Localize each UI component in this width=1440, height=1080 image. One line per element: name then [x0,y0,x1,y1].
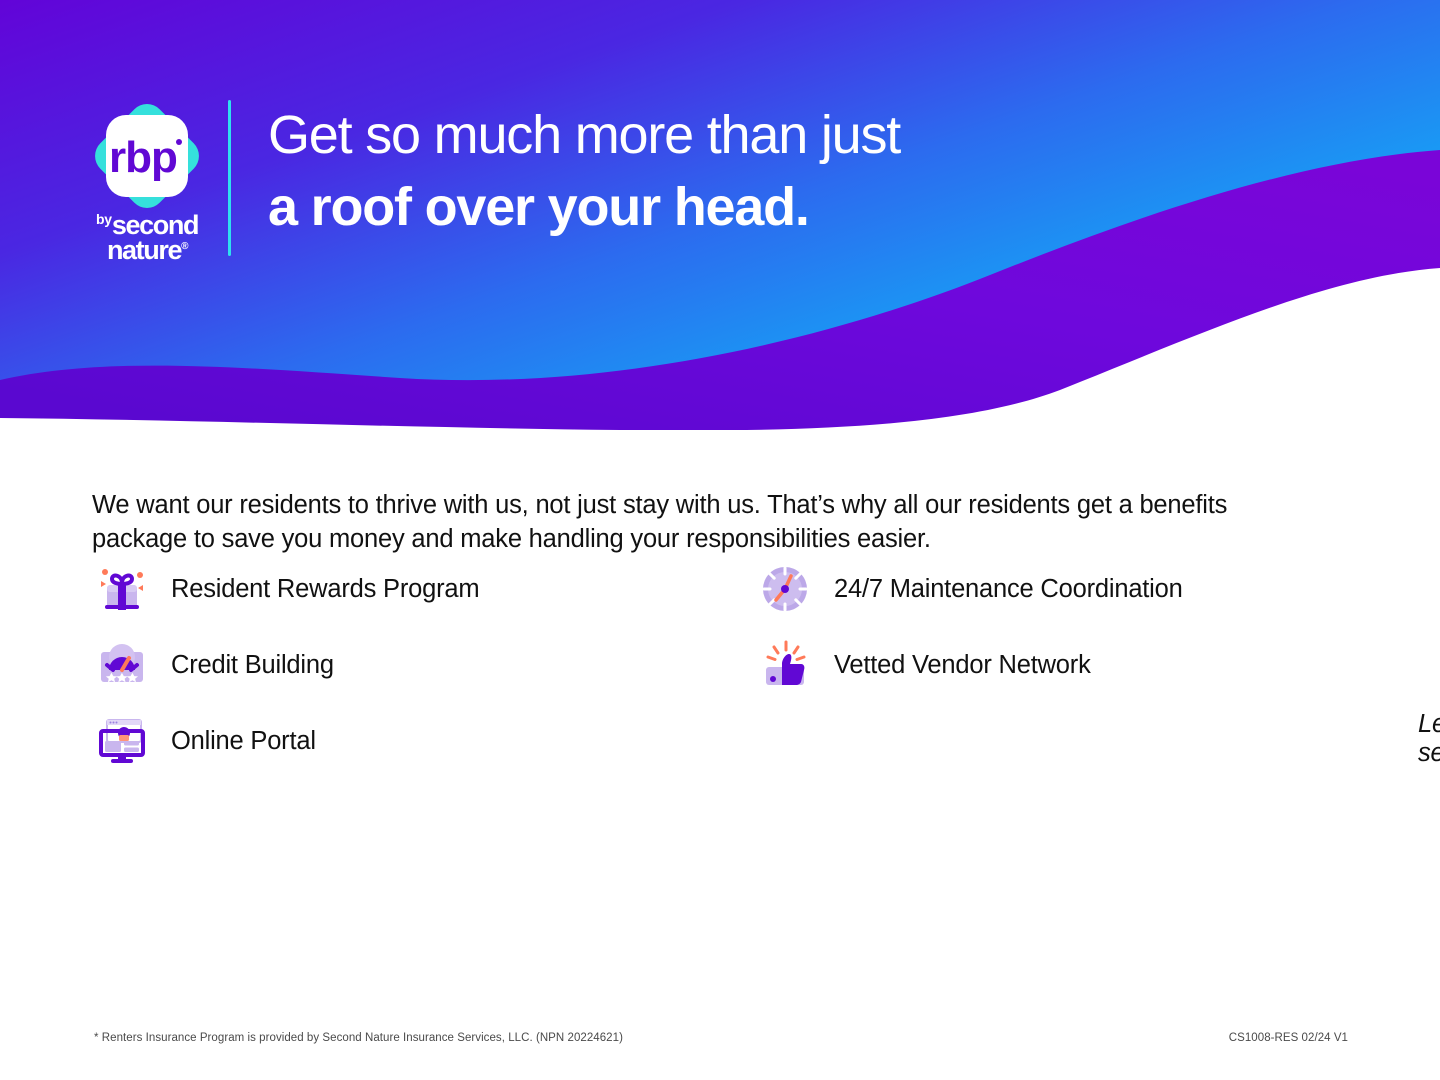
benefit-item-online-portal: Online Portal [92,710,712,772]
headline-line-2: a roof over your head. [268,180,900,234]
svg-text:rbp: rbp [109,133,177,182]
benefit-label: Resident Rewards Program [171,575,479,604]
benefit-item-vendor-network: Vetted Vendor Network [755,634,1355,696]
logo-registered-mark: ® [181,241,187,252]
benefit-label: Online Portal [171,727,316,756]
benefits-column-left: Resident Rewards Program Credit Building [92,558,712,786]
benefit-item-maintenance: 24/7 Maintenance Coordination [755,558,1355,620]
credit-gauge-icon [92,636,152,694]
headline-line-1: Get so much more than just [268,108,900,162]
benefit-item-credit-building: Credit Building [92,634,712,696]
rbp-logo-mark: rbp [91,100,203,212]
gift-icon [92,560,152,618]
rbp-logo-byline: bysecond nature® [88,212,206,264]
logo-nature-label: nature® [88,237,206,264]
rbp-badge-icon: rbp [91,100,203,212]
clock-icon [755,560,815,618]
rbp-logo: rbp bysecond nature® [88,100,206,260]
learn-more-link[interactable]: Learn more at secondnature.com/residents [1418,710,1440,768]
hero-banner: rbp bysecond nature® Get so much more th… [0,0,1440,430]
footer-doc-code: CS1008-RES 02/24 V1 [1229,1032,1348,1044]
thumbs-up-icon [755,636,815,694]
benefit-label: Credit Building [171,651,334,680]
benefit-item-resident-rewards: Resident Rewards Program [92,558,712,620]
benefit-label: 24/7 Maintenance Coordination [834,575,1183,604]
logo-nature-text: nature [107,235,181,265]
hero-headline: Get so much more than just a roof over y… [268,108,900,234]
intro-paragraph: We want our residents to thrive with us,… [92,488,1322,556]
footer-disclaimer: * Renters Insurance Program is provided … [94,1032,623,1044]
benefits-column-right: 24/7 Maintenance Coordination [755,558,1355,710]
logo-by-label: by [96,211,112,227]
monitor-icon [92,712,152,770]
logo-divider [228,100,231,256]
benefit-label: Vetted Vendor Network [834,651,1091,680]
